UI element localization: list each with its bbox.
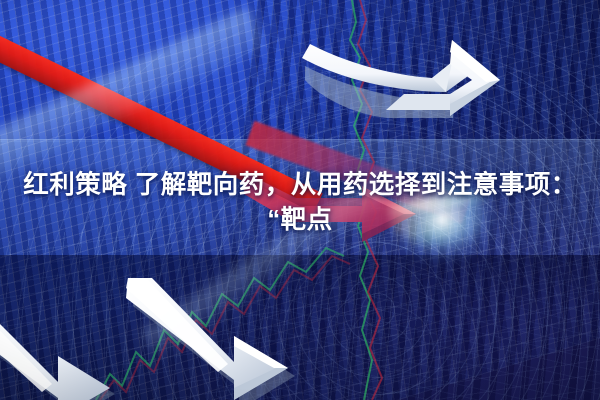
arrow-down-right-icon <box>0 300 118 400</box>
banner-image: 红利策略 了解靶向药，从用药选择到注意事项： “靶点 <box>0 0 600 400</box>
arrow-down-right-icon <box>122 278 302 400</box>
arrow-up-right-icon <box>300 24 600 142</box>
